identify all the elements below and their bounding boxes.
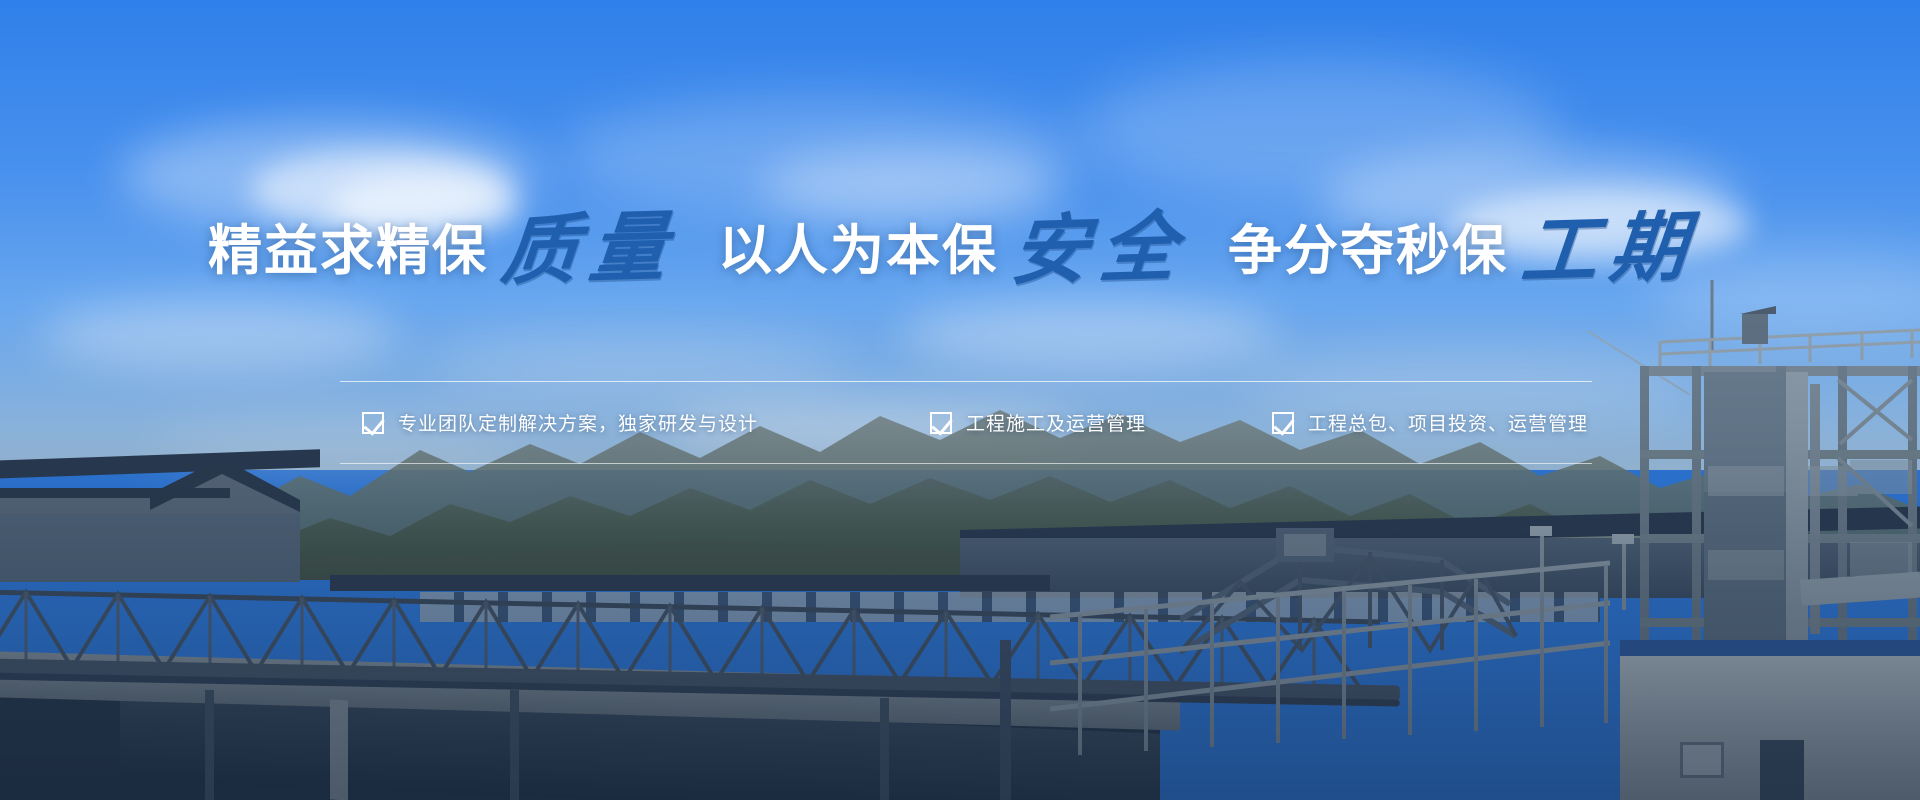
features-list: 专业团队定制解决方案，独家研发与设计 工程施工及运营管理 工程总包、项目投资、运… [340, 382, 1592, 463]
headline-plain-3: 争分夺秒保 [1228, 221, 1508, 281]
headline-calligraphy-3: 工期 [1504, 208, 1716, 290]
features-strip: 专业团队定制解决方案，独家研发与设计 工程施工及运营管理 工程总包、项目投资、运… [340, 381, 1592, 464]
checkbox-checked-icon [362, 412, 384, 434]
headline-plain-2: 以人为本保 [718, 221, 998, 281]
headline-calligraphy-2: 安全 [994, 208, 1206, 290]
feature-item-1: 专业团队定制解决方案，独家研发与设计 [362, 409, 758, 436]
feature-label-2: 工程施工及运营管理 [966, 409, 1146, 436]
headline-segment-3: 争分夺秒保工期 [1228, 205, 1712, 281]
feature-label-1: 专业团队定制解决方案，独家研发与设计 [398, 409, 758, 436]
hero-banner: 精益求精保质量 以人为本保安全 争分夺秒保工期 专业团队定制解决方案，独家研发与… [0, 0, 1920, 800]
headline-segment-1: 精益求精保质量 [208, 205, 692, 281]
feature-item-3: 工程总包、项目投资、运营管理 [1272, 409, 1588, 436]
headline: 精益求精保质量 以人为本保安全 争分夺秒保工期 [0, 205, 1920, 281]
headline-segment-2: 以人为本保安全 [718, 205, 1202, 281]
headline-calligraphy-1: 质量 [484, 208, 696, 290]
checkbox-checked-icon [1272, 412, 1294, 434]
divider-bottom [340, 463, 1592, 464]
feature-item-2: 工程施工及运营管理 [930, 409, 1146, 436]
checkbox-checked-icon [930, 412, 952, 434]
feature-label-3: 工程总包、项目投资、运营管理 [1308, 409, 1588, 436]
headline-plain-1: 精益求精保 [208, 221, 488, 281]
banner-content: 精益求精保质量 以人为本保安全 争分夺秒保工期 专业团队定制解决方案，独家研发与… [0, 0, 1920, 800]
